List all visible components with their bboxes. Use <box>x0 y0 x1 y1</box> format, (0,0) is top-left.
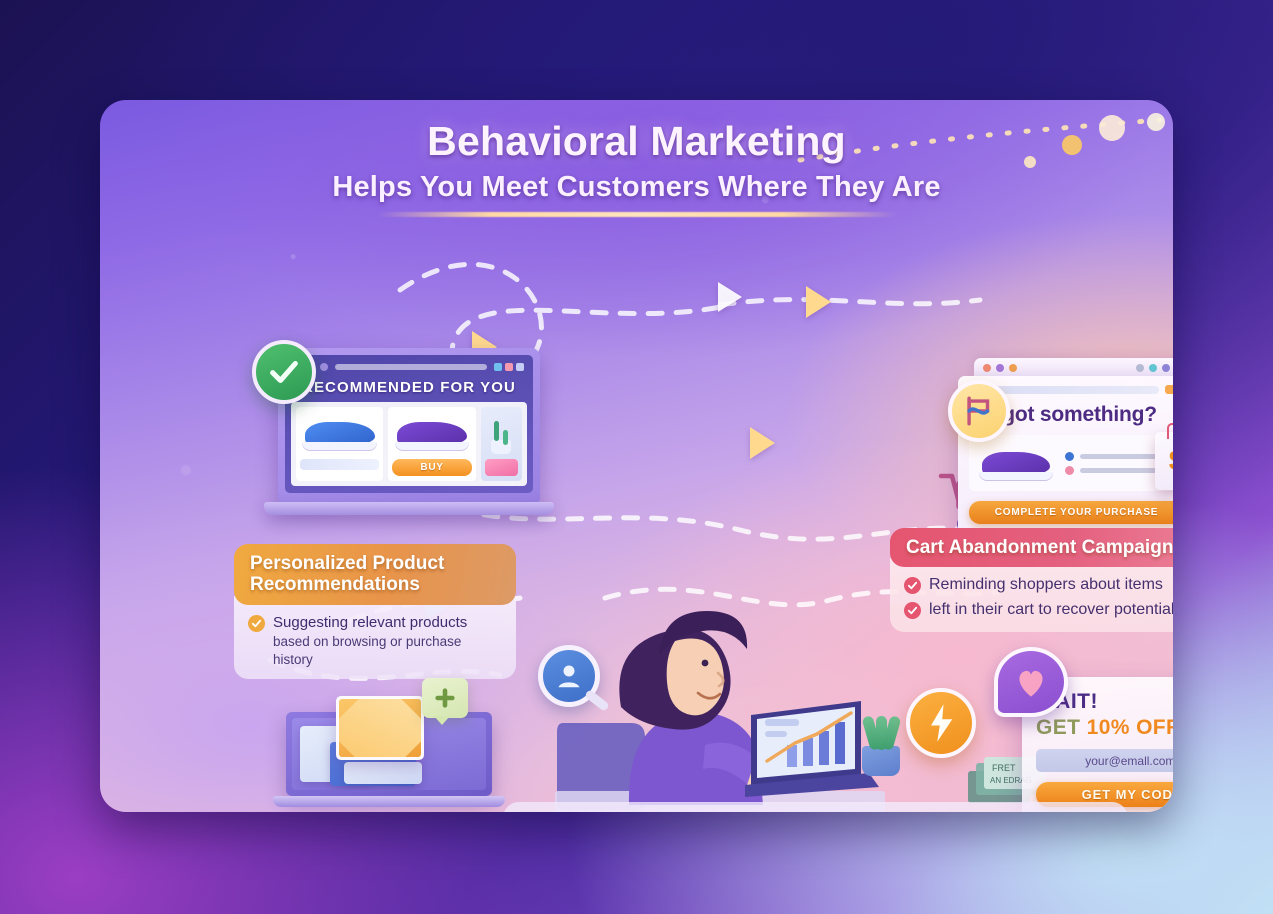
buy-button[interactable]: BUY <box>392 459 471 476</box>
browser-window-back <box>974 358 1173 378</box>
window-dots-left-icon <box>983 364 1017 372</box>
cart-item-row <box>969 435 1173 491</box>
card-bullet: Reminding shoppers about items <box>904 575 1173 596</box>
shoe-violet-image <box>392 412 471 454</box>
user-icon <box>554 661 584 691</box>
shoe-blue-image <box>300 412 379 454</box>
summary-caption: Meet your customers where they are. Beha… <box>503 802 1128 812</box>
cactus-plant-image <box>485 412 518 454</box>
audience-search-icon <box>538 645 600 707</box>
check-badge-icon <box>252 340 316 404</box>
mail-flag-badge-icon <box>948 380 1010 442</box>
check-circle-icon <box>904 577 921 594</box>
toolbar-button[interactable] <box>1165 385 1173 394</box>
product-card-plant[interactable] <box>481 407 522 481</box>
address-bar[interactable] <box>335 364 487 370</box>
flow-arrow-top-left-icon <box>718 282 742 312</box>
flag-icon <box>962 394 996 428</box>
page-title: Behavioral Marketing <box>100 118 1173 165</box>
lightning-bolt-badge-icon <box>906 688 976 758</box>
title-underline-divider <box>377 212 897 217</box>
check-circle-icon <box>248 615 265 632</box>
check-icon <box>251 618 262 629</box>
toolbar-square <box>494 363 502 371</box>
plus-bubble-icon <box>422 678 468 718</box>
window-dot <box>1009 364 1017 372</box>
email-field[interactable]: your@emall.com. <box>1036 749 1173 772</box>
laptop-screen: RECOMMENDED FOR YOU BUY <box>285 355 533 493</box>
bullet-dot-icon <box>1065 452 1074 461</box>
offer-value: 10% OFF <box>1087 716 1173 739</box>
infographic-card: Behavioral Marketing Helps You Meet Cust… <box>100 100 1173 812</box>
product-grid: BUY <box>291 402 527 486</box>
product-price-placeholder <box>300 459 379 470</box>
product-card[interactable]: BUY <box>388 407 475 481</box>
email-envelope-icon <box>336 696 424 760</box>
heart-icon <box>1014 667 1048 698</box>
check-icon <box>267 355 301 389</box>
check-circle-icon <box>904 602 921 619</box>
shoe-violet-image <box>977 442 1055 484</box>
toolbar-square <box>505 363 513 371</box>
offer-prefix: GET <box>1036 716 1087 739</box>
window-dot <box>996 364 1004 372</box>
window-dots-right-icon <box>1136 364 1170 372</box>
recommended-heading: RECOMMENDED FOR YOU <box>291 376 527 402</box>
card-cart-abandonment-campaigns: Cart Abandonment Campaigns Reminding sho… <box>890 528 1173 632</box>
toolbar-squares-icon <box>494 363 524 371</box>
card-line-2: left in their cart to recover potential … <box>929 600 1173 621</box>
card-bullet: left in their cart to recover potential … <box>904 600 1173 621</box>
popup-offer-heading: GET 10% OFF <box>1036 716 1173 740</box>
browser-toolbar <box>291 361 527 376</box>
potted-plant-icon <box>862 746 900 776</box>
window-dot <box>983 364 991 372</box>
product-chip <box>485 459 518 476</box>
card-bullet: Suggesting relevant products <box>248 613 502 633</box>
bullet-dot-icon <box>1065 466 1074 475</box>
toolbar-square <box>516 363 524 371</box>
check-icon <box>907 580 918 591</box>
plus-icon <box>434 687 456 709</box>
check-icon <box>907 605 918 616</box>
flow-arrow-top-right-icon <box>806 286 831 318</box>
window-dot <box>320 363 328 371</box>
laptop-base <box>264 502 554 515</box>
flow-arrow-mid-right-icon <box>750 427 775 459</box>
heart-bubble-badge-icon <box>994 647 1068 717</box>
card-personalized-product-recommendations: Personalized Product Recommendations Sug… <box>234 544 516 679</box>
cart-abandonment-window: Forgot something? COMPLETE YOUR PURCHASE <box>974 358 1173 378</box>
card-line-2: based on browsing or purchase history <box>248 633 502 668</box>
card-line-1: Reminding shoppers about items <box>929 575 1163 596</box>
complete-purchase-button[interactable]: COMPLETE YOUR PURCHASE <box>969 501 1173 524</box>
bolt-icon <box>926 703 956 743</box>
header: Behavioral Marketing Helps You Meet Cust… <box>100 118 1173 217</box>
laptop-base <box>273 796 505 807</box>
card-title: Personalized Product Recommendations <box>234 544 516 605</box>
card-body: Suggesting relevant products based on br… <box>234 596 516 680</box>
svg-text:FRET: FRET <box>992 763 1016 773</box>
document-sheet <box>344 762 422 784</box>
page-subtitle: Helps You Meet Customers Where They Are <box>100 171 1173 204</box>
card-line-1: Suggesting relevant products <box>273 613 467 633</box>
card-body: Reminding shoppers about items left in t… <box>890 558 1173 632</box>
laptop-lid: RECOMMENDED FOR YOU BUY <box>278 348 540 502</box>
price-tag-badge: $ <box>1155 432 1173 490</box>
window-dot <box>1149 364 1157 372</box>
recommendation-laptop: RECOMMENDED FOR YOU BUY <box>278 348 540 515</box>
product-card[interactable] <box>296 407 383 481</box>
card-title: Cart Abandonment Campaigns <box>890 528 1173 567</box>
window-dot <box>1136 364 1144 372</box>
window-dot <box>1162 364 1170 372</box>
